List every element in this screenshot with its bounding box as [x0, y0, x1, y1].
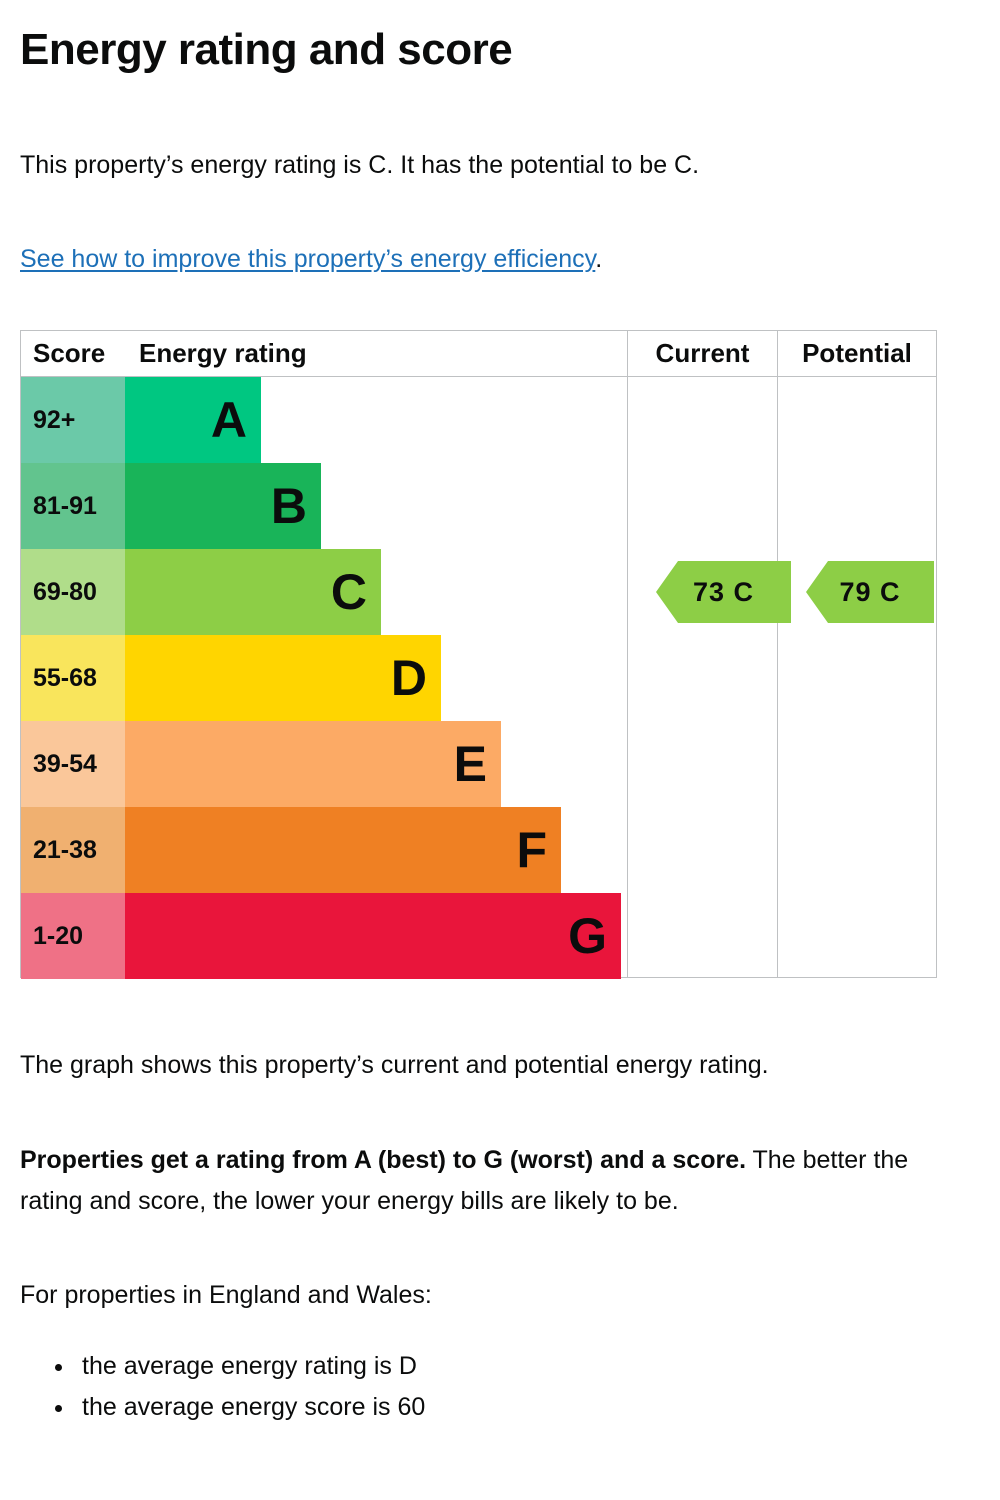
- rating-explainer-lead: Properties get a rating from A (best) to…: [20, 1146, 746, 1174]
- graph-bands: 92+A81-91B69-80C55-68D39-54E21-38F1-20G7…: [21, 377, 936, 978]
- list-item: the average energy score is 60: [76, 1387, 425, 1428]
- rating-bar-b: B: [125, 463, 321, 549]
- improve-link-period: .: [595, 245, 602, 273]
- rating-explainer: Properties get a rating from A (best) to…: [20, 1140, 950, 1222]
- score-range-d: 55-68: [21, 635, 125, 721]
- rating-band-e: 39-54E: [21, 721, 936, 807]
- epc-energy-rating-page: Energy rating and score This property’s …: [0, 0, 1000, 1500]
- energy-rating-graph: Score Energy rating Current Potential 92…: [20, 330, 937, 978]
- header-current: Current: [627, 331, 777, 376]
- rating-bar-a: A: [125, 377, 261, 463]
- rating-band-d: 55-68D: [21, 635, 936, 721]
- rating-bar-g: G: [125, 893, 621, 979]
- potential-rating-arrow: 79 C: [806, 561, 934, 623]
- score-range-g: 1-20: [21, 893, 125, 979]
- improve-efficiency-link[interactable]: See how to improve this property’s energ…: [20, 245, 595, 273]
- rating-bar-e: E: [125, 721, 501, 807]
- rating-band-f: 21-38F: [21, 807, 936, 893]
- rating-band-a: 92+A: [21, 377, 936, 463]
- score-range-b: 81-91: [21, 463, 125, 549]
- column-divider-current: [627, 377, 628, 978]
- header-energy-rating: Energy rating: [139, 331, 619, 376]
- rating-bar-c: C: [125, 549, 381, 635]
- graph-header-row: Score Energy rating Current Potential: [21, 331, 936, 377]
- list-item: the average energy rating is D: [76, 1346, 425, 1387]
- rating-bar-f: F: [125, 807, 561, 893]
- header-score: Score: [33, 331, 125, 376]
- current-rating-arrow: 73 C: [656, 561, 791, 623]
- rating-band-b: 81-91B: [21, 463, 936, 549]
- header-potential: Potential: [777, 331, 936, 376]
- score-range-e: 39-54: [21, 721, 125, 807]
- rating-bar-d: D: [125, 635, 441, 721]
- page-title: Energy rating and score: [20, 24, 512, 76]
- improve-efficiency-line: See how to improve this property’s energ…: [20, 242, 602, 276]
- rating-band-g: 1-20G: [21, 893, 936, 979]
- intro-paragraph: This property’s energy rating is C. It h…: [20, 148, 699, 182]
- column-divider-potential: [777, 377, 778, 978]
- england-wales-averages-list: the average energy rating is Dthe averag…: [20, 1346, 425, 1428]
- score-range-c: 69-80: [21, 549, 125, 635]
- score-range-f: 21-38: [21, 807, 125, 893]
- graph-caption: The graph shows this property’s current …: [20, 1048, 769, 1082]
- rating-band-c: 69-80C: [21, 549, 936, 635]
- england-wales-intro: For properties in England and Wales:: [20, 1278, 432, 1312]
- score-range-a: 92+: [21, 377, 125, 463]
